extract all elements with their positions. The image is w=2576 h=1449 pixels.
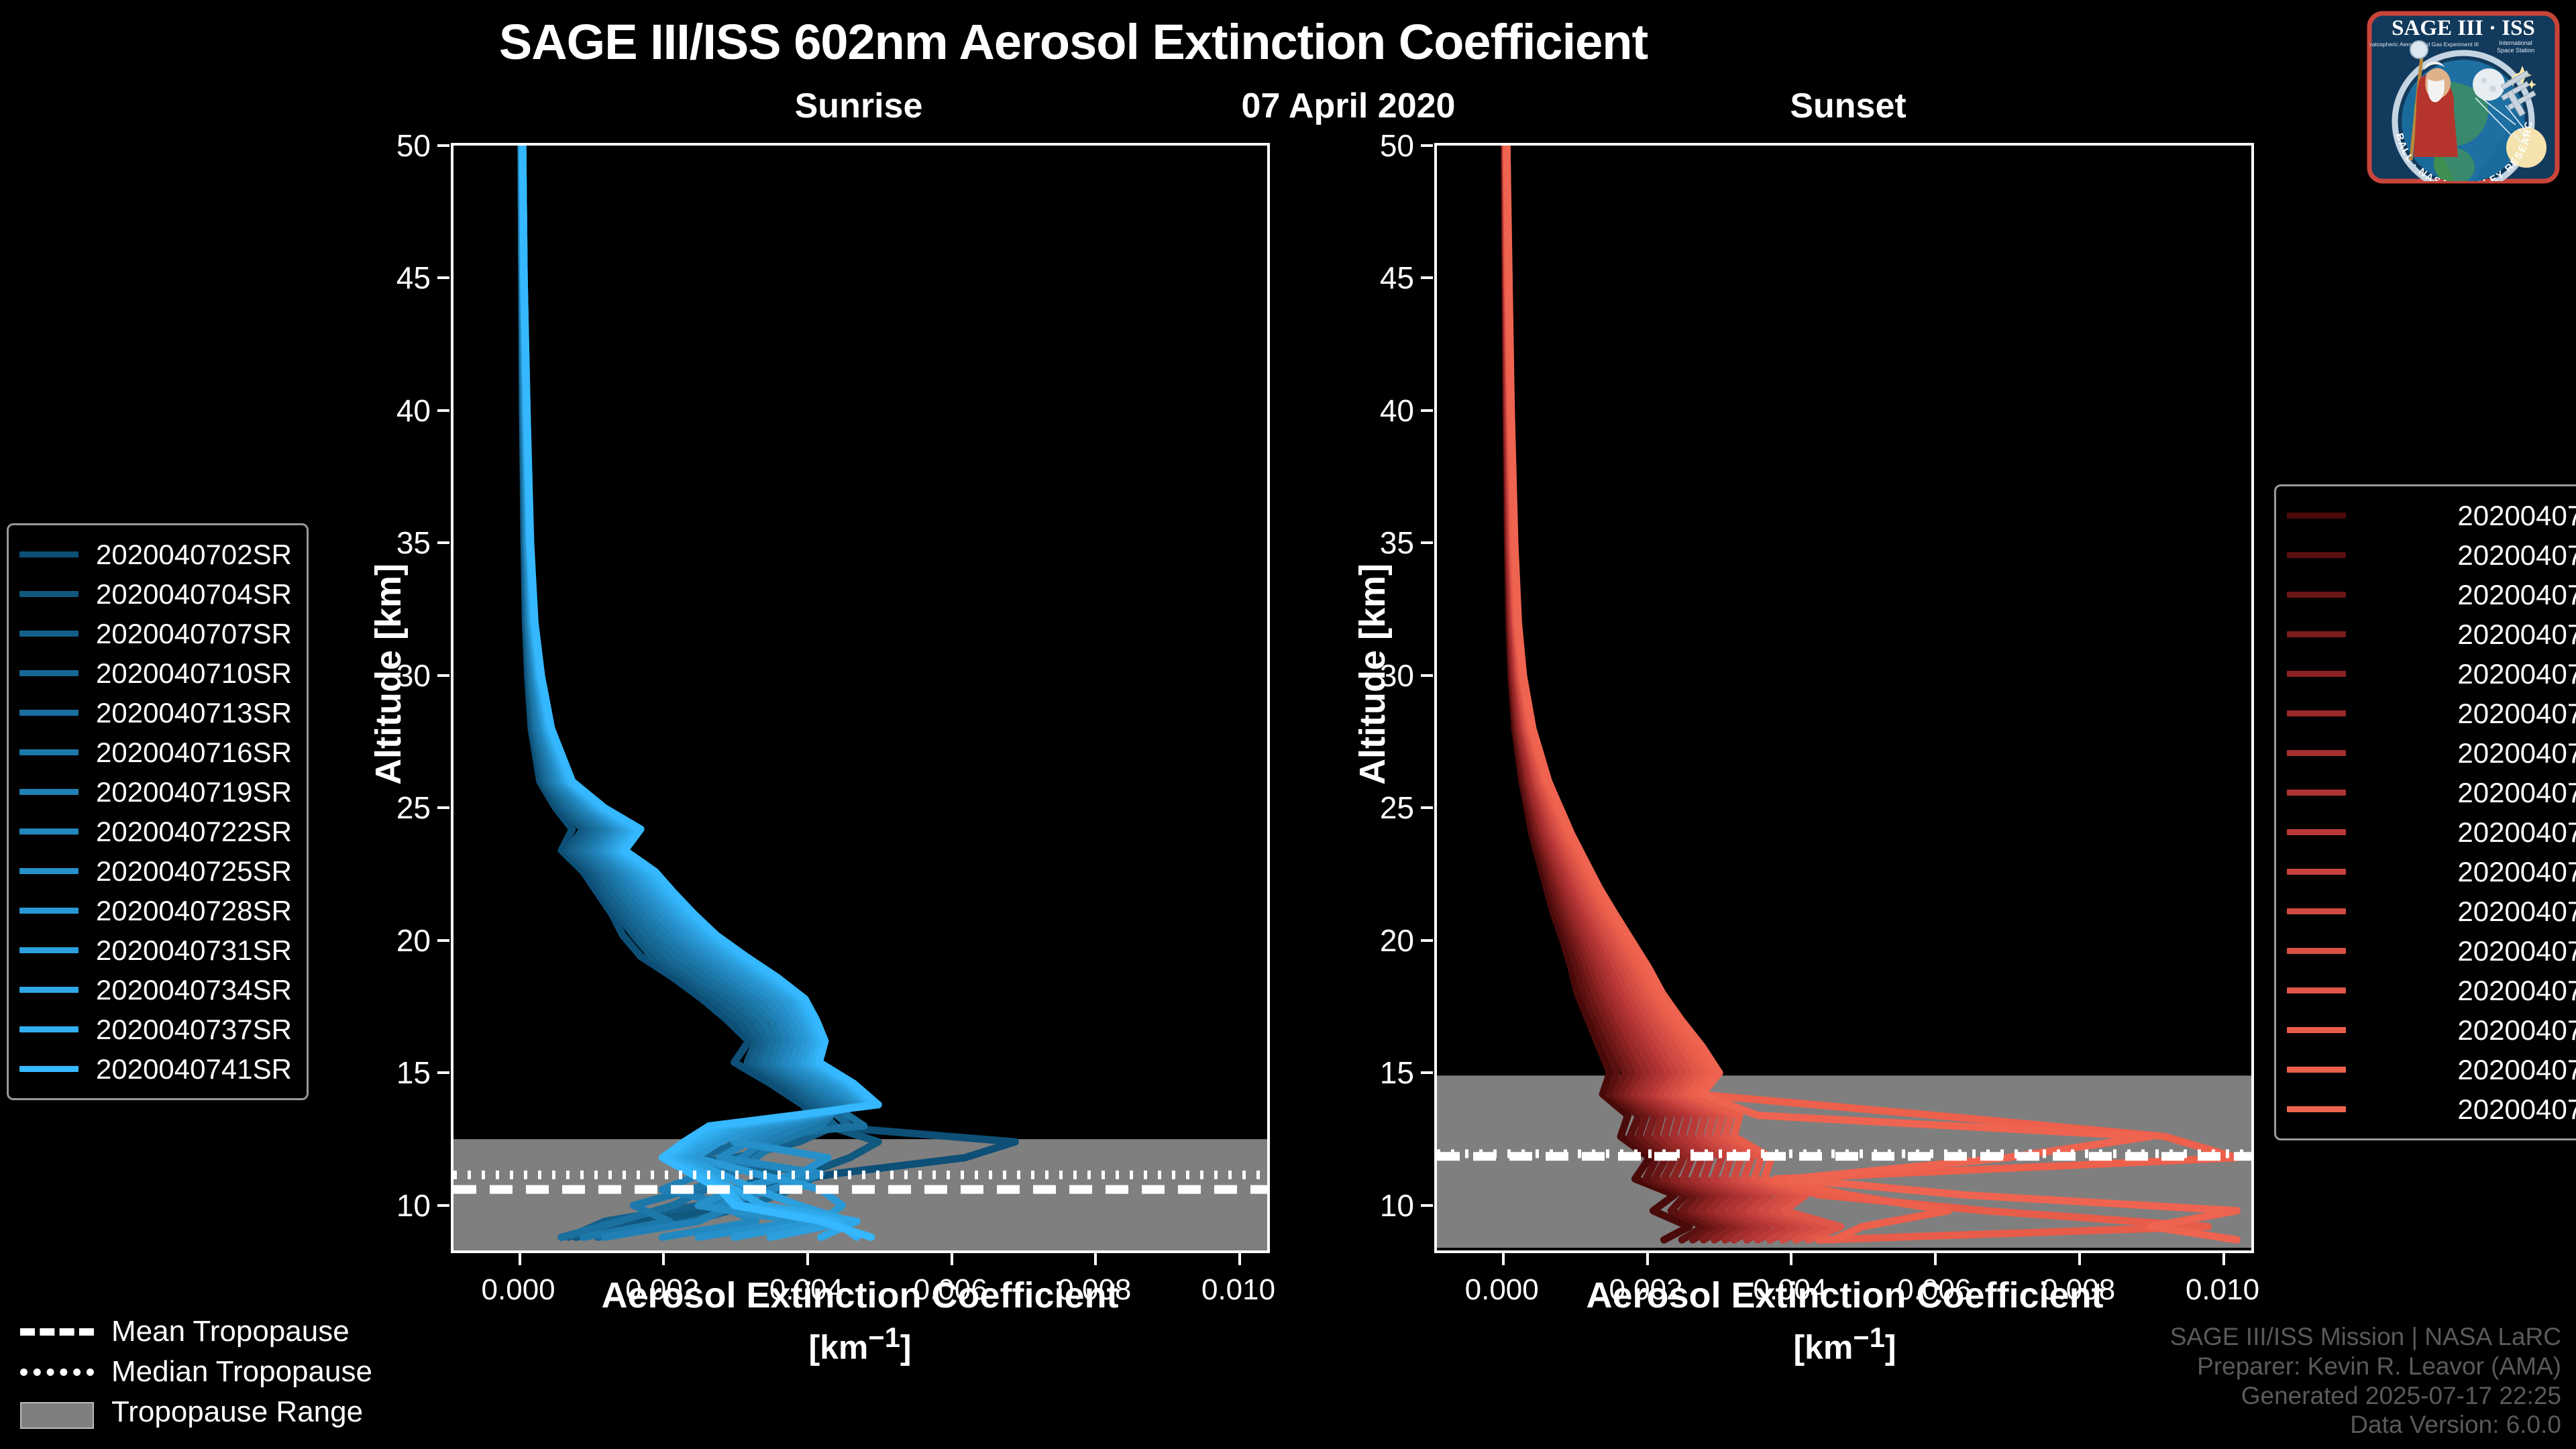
legend-series-label: 2020040702SR [96, 539, 292, 571]
y-tick-mark [1421, 144, 1433, 147]
sunset-x-axis-title-text: Aerosol Extinction Coefficient [1586, 1275, 2103, 1316]
legend-series-label: 2020040721SS [2363, 777, 2576, 809]
legend-color-swatch [2287, 750, 2346, 756]
y-tick-label: 20 [1313, 922, 1414, 959]
legend-series-label: 2020040712SS [2363, 658, 2576, 690]
legend-item-2020040709ss[interactable]: 2020040709SS [2287, 614, 2576, 654]
y-tick-mark [437, 276, 449, 279]
subtitle-row: Sunrise 07 April 2020 Sunset [0, 86, 2576, 133]
sunset-y-axis-title: Altitude [km] [1352, 563, 1393, 785]
footer-line-mission: SAGE III/ISS Mission | NASA LaRC [2170, 1322, 2561, 1352]
footer-line-preparer: Preparer: Kevin R. Leavor (AMA) [2170, 1352, 2561, 1381]
legend-color-swatch [19, 828, 78, 835]
sunrise-series-canvas [453, 146, 1267, 1250]
legend-color-swatch [19, 631, 78, 637]
legend-item-2020040733ss[interactable]: 2020040733SS [2287, 931, 2576, 971]
legend-item-2020040722sr[interactable]: 2020040722SR [19, 812, 292, 851]
footer-line-dataversion: Data Version: 6.0.0 [2170, 1410, 2561, 1440]
y-tick-label: 25 [1313, 790, 1414, 826]
legend-color-swatch [2287, 710, 2346, 716]
legend-item-2020040734sr[interactable]: 2020040734SR [19, 970, 292, 1010]
x-tick-mark [1094, 1253, 1097, 1265]
y-tick-mark [1421, 674, 1433, 677]
legend-label-median-tropopause: Median Tropopause [111, 1355, 372, 1389]
observation-date-label: 07 April 2020 [1167, 86, 1529, 126]
sunrise-x-axis-units: [km−1] [390, 1322, 1330, 1367]
y-tick-label: 40 [330, 392, 431, 429]
legend-color-swatch [19, 1026, 78, 1032]
y-tick-label: 10 [330, 1187, 431, 1224]
legend-item-2020040738ss[interactable]: 2020040738SS [2287, 1010, 2576, 1050]
y-tick-label: 50 [330, 127, 431, 164]
legend-item-2020040737sr[interactable]: 2020040737SR [19, 1010, 292, 1049]
dashed-line-icon [20, 1322, 94, 1342]
sunset-plot-panel[interactable] [1434, 143, 2254, 1253]
sunset-series-canvas [1437, 146, 2251, 1250]
y-tick-mark [1421, 1071, 1433, 1074]
sunrise-y-axis-title: Altitude [km] [368, 563, 409, 785]
legend-color-swatch [2287, 631, 2346, 637]
y-tick-mark [1421, 1204, 1433, 1207]
y-tick-mark [1421, 939, 1433, 942]
legend-series-label: 2020040734SR [96, 974, 292, 1006]
x-tick-mark [519, 1253, 521, 1265]
sunrise-x-axis-title-text: Aerosol Extinction Coefficient [601, 1275, 1118, 1316]
legend-color-swatch [19, 749, 78, 755]
legend-item-2020040728sr[interactable]: 2020040728SR [19, 891, 292, 930]
y-tick-label: 45 [330, 260, 431, 296]
y-tick-mark [1421, 409, 1433, 412]
legend-series-label: 2020040707SR [96, 618, 292, 650]
legend-item-2020040721ss[interactable]: 2020040721SS [2287, 773, 2576, 812]
legend-series-label: 2020040722SR [96, 816, 292, 848]
legend-series-label: 2020040740SS [2363, 1054, 2576, 1086]
legend-item-2020040710sr[interactable]: 2020040710SR [19, 653, 292, 693]
legend-color-swatch [19, 1066, 78, 1072]
legend-color-swatch [19, 710, 78, 716]
sunset-plot-area [1437, 146, 2251, 1250]
legend-series-label: 2020040701SS [2363, 500, 2576, 532]
dotted-line-icon [20, 1362, 94, 1382]
tropopause-legend[interactable]: Mean Tropopause Median Tropopause Tropop… [20, 1311, 372, 1432]
x-tick-mark [806, 1253, 809, 1265]
legend-item-2020040742ss[interactable]: 2020040742SS [2287, 1089, 2576, 1129]
legend-series-label: 2020040703SS [2363, 539, 2576, 572]
legend-color-swatch [2287, 1067, 2346, 1073]
y-tick-mark [1421, 541, 1433, 544]
y-tick-label: 25 [330, 790, 431, 826]
legend-series-label: 2020040716SR [96, 737, 292, 769]
legend-color-swatch [2287, 790, 2346, 796]
sunrise-panel-label: Sunrise [765, 86, 953, 126]
x-tick-mark [1934, 1253, 1937, 1265]
legend-series-label: 2020040727SS [2363, 856, 2576, 888]
y-tick-mark [437, 1204, 449, 1207]
filled-band-icon [20, 1402, 94, 1422]
y-tick-mark [437, 674, 449, 677]
y-tick-label: 10 [1313, 1187, 1414, 1224]
legend-color-swatch [19, 908, 78, 914]
y-tick-label: 35 [1313, 525, 1414, 561]
svg-text:International: International [2499, 40, 2532, 46]
legend-item-2020040713sr[interactable]: 2020040713SR [19, 693, 292, 733]
legend-series-label: 2020040718SS [2363, 737, 2576, 769]
legend-color-swatch [19, 789, 78, 795]
x-tick-mark [1238, 1253, 1241, 1265]
y-tick-label: 50 [1313, 127, 1414, 164]
svg-text:Space Station: Space Station [2497, 47, 2534, 54]
x-tick-mark [951, 1253, 953, 1265]
legend-color-swatch [2287, 592, 2346, 598]
legend-color-swatch [2287, 908, 2346, 914]
legend-item-mean-tropopause[interactable]: Mean Tropopause [20, 1311, 372, 1352]
legend-item-2020040730ss[interactable]: 2020040730SS [2287, 892, 2576, 931]
y-tick-label: 40 [1313, 392, 1414, 429]
legend-series-label: 2020040719SR [96, 776, 292, 808]
legend-item-2020040740ss[interactable]: 2020040740SS [2287, 1050, 2576, 1089]
legend-item-2020040715ss[interactable]: 2020040715SS [2287, 694, 2576, 733]
svg-text:SAGE III · ISS: SAGE III · ISS [2392, 16, 2535, 40]
footer-credits: SAGE III/ISS Mission | NASA LaRC Prepare… [2170, 1322, 2561, 1440]
y-tick-label: 35 [330, 525, 431, 561]
legend-color-swatch [19, 551, 78, 557]
legend-item-2020040736ss[interactable]: 2020040736SS [2287, 971, 2576, 1010]
sage-iii-iss-logo-icon: SAGE III · ISS Stratospheric Aerosol and… [2363, 4, 2564, 205]
legend-series-label: 2020040724SS [2363, 816, 2576, 849]
legend-item-2020040704sr[interactable]: 2020040704SR [19, 574, 292, 614]
y-tick-mark [1421, 806, 1433, 809]
legend-series-label: 2020040730SS [2363, 896, 2576, 928]
footer-line-generated: Generated 2025-07-17 22:25 [2170, 1381, 2561, 1411]
legend-color-swatch [19, 947, 78, 953]
sunset-series-legend[interactable]: 2020040701SS2020040703SS2020040706SS2020… [2274, 484, 2576, 1140]
legend-item-2020040706ss[interactable]: 2020040706SS [2287, 575, 2576, 614]
sunrise-plot-panel[interactable] [451, 143, 1270, 1253]
legend-series-label: 2020040728SR [96, 895, 292, 927]
legend-series-label: 2020040710SR [96, 657, 292, 690]
legend-color-swatch [2287, 552, 2346, 558]
y-tick-mark [1421, 276, 1433, 279]
y-tick-label: 20 [330, 922, 431, 959]
page-title: SAGE III/ISS 602nm Aerosol Extinction Co… [0, 13, 2147, 70]
legend-color-swatch [2287, 1027, 2346, 1033]
legend-series-label: 2020040715SS [2363, 698, 2576, 730]
y-tick-mark [437, 806, 449, 809]
x-tick-mark [2078, 1253, 2081, 1265]
legend-series-label: 2020040737SR [96, 1014, 292, 1046]
y-tick-mark [437, 409, 449, 412]
legend-color-swatch [2287, 948, 2346, 954]
sunset-panel-label: Sunset [1751, 86, 1945, 126]
legend-item-median-tropopause[interactable]: Median Tropopause [20, 1352, 372, 1392]
legend-color-swatch [2287, 987, 2346, 994]
legend-label-mean-tropopause: Mean Tropopause [111, 1315, 350, 1348]
legend-color-swatch [19, 868, 78, 874]
legend-series-label: 2020040741SR [96, 1053, 292, 1085]
legend-item-tropopause-range[interactable]: Tropopause Range [20, 1392, 372, 1432]
sunrise-series-legend[interactable]: 2020040702SR2020040704SR2020040707SR2020… [7, 523, 309, 1100]
legend-color-swatch [2287, 1106, 2346, 1112]
y-tick-mark [437, 144, 449, 147]
y-tick-label: 15 [1313, 1055, 1414, 1091]
legend-series-label: 2020040733SS [2363, 935, 2576, 967]
y-tick-mark [437, 1071, 449, 1074]
legend-series-label: 2020040709SS [2363, 619, 2576, 651]
legend-series-label: 2020040704SR [96, 578, 292, 610]
legend-item-2020040703ss[interactable]: 2020040703SS [2287, 535, 2576, 575]
legend-item-2020040741sr[interactable]: 2020040741SR [19, 1049, 292, 1089]
legend-color-swatch [2287, 671, 2346, 677]
legend-color-swatch [19, 670, 78, 676]
legend-item-2020040727ss[interactable]: 2020040727SS [2287, 852, 2576, 892]
legend-color-swatch [2287, 513, 2346, 519]
y-tick-label: 45 [1313, 260, 1414, 296]
legend-series-label: 2020040731SR [96, 934, 292, 967]
legend-series-label: 2020040742SS [2363, 1093, 2576, 1126]
x-tick-mark [1790, 1253, 1792, 1265]
legend-item-2020040707sr[interactable]: 2020040707SR [19, 614, 292, 653]
x-tick-mark [2222, 1253, 2225, 1265]
legend-color-swatch [2287, 829, 2346, 835]
legend-color-swatch [19, 591, 78, 597]
legend-item-2020040701ss[interactable]: 2020040701SS [2287, 496, 2576, 535]
sunrise-plot-area [453, 146, 1267, 1250]
legend-item-2020040712ss[interactable]: 2020040712SS [2287, 654, 2576, 694]
x-tick-mark [1502, 1253, 1505, 1265]
legend-item-2020040702sr[interactable]: 2020040702SR [19, 535, 292, 574]
legend-series-label: 2020040706SS [2363, 579, 2576, 611]
legend-item-2020040724ss[interactable]: 2020040724SS [2287, 812, 2576, 852]
legend-item-2020040725sr[interactable]: 2020040725SR [19, 851, 292, 891]
legend-item-2020040719sr[interactable]: 2020040719SR [19, 772, 292, 812]
legend-item-2020040731sr[interactable]: 2020040731SR [19, 930, 292, 970]
legend-color-swatch [2287, 869, 2346, 875]
legend-series-label: 2020040738SS [2363, 1014, 2576, 1046]
legend-series-label: 2020040713SR [96, 697, 292, 729]
x-tick-mark [662, 1253, 665, 1265]
legend-label-tropopause-range: Tropopause Range [111, 1395, 363, 1429]
y-tick-mark [437, 541, 449, 544]
legend-series-label: 2020040725SR [96, 855, 292, 888]
legend-item-2020040716sr[interactable]: 2020040716SR [19, 733, 292, 772]
x-tick-mark [1646, 1253, 1649, 1265]
legend-color-swatch [19, 987, 78, 993]
y-tick-mark [437, 939, 449, 942]
legend-item-2020040718ss[interactable]: 2020040718SS [2287, 733, 2576, 773]
y-tick-label: 15 [330, 1055, 431, 1091]
sunrise-x-axis-title: Aerosol Extinction Coefficient [km−1] [390, 1275, 1330, 1367]
legend-series-label: 2020040736SS [2363, 975, 2576, 1007]
